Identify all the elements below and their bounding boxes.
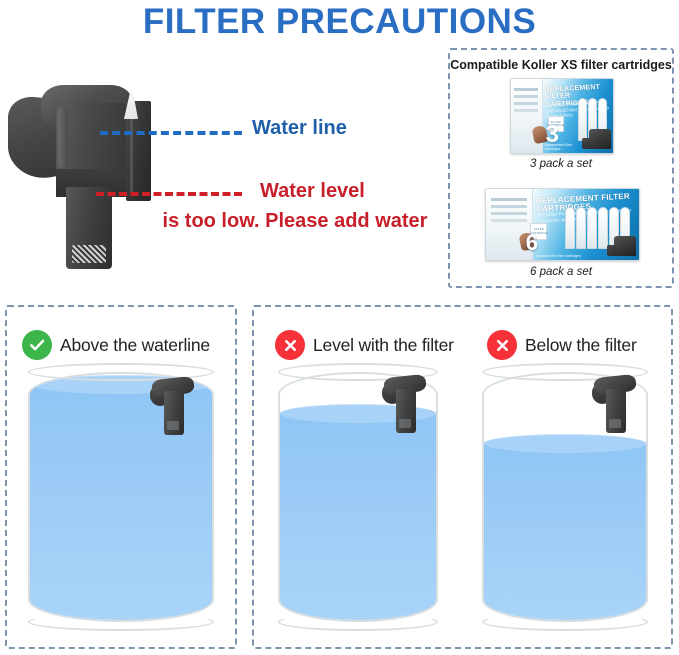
cartridge-graphic (578, 98, 587, 141)
check-circle-icon (22, 330, 52, 360)
box-count-caption: replacement filter cartridges (536, 254, 582, 258)
tank-water-fill (484, 443, 646, 620)
tank-level-with-filter (278, 372, 438, 622)
cartridges-panel-header: Compatible Koller XS filter cartridges (450, 58, 672, 72)
tank-base-ellipse (278, 613, 438, 631)
water-level-label-line2: is too low. Please add water (150, 210, 440, 233)
water-line-label: Water line (252, 117, 347, 140)
status-above-waterline: Above the waterline (22, 330, 210, 360)
product-box-artwork: REPLACEMENT FILTER CARTRIDGES For Koller… (510, 78, 614, 154)
infographic-root: FILTER PRECAUTIONS Water line Water leve… (0, 0, 679, 655)
product-box-6-pack: REPLACEMENT FILTER CARTRIDGES For Koller… (485, 188, 640, 261)
tank-mounted-filter (592, 376, 638, 440)
box-filter-graphic (614, 236, 636, 256)
cartridge-graphic (565, 207, 575, 248)
mini-filter-tube (396, 389, 416, 433)
status-label-above-waterline: Above the waterline (60, 335, 210, 356)
compatible-cartridges-panel: Compatible Koller XS filter cartridges R… (448, 48, 674, 288)
status-below-filter: Below the filter (487, 330, 637, 360)
page-title: FILTER PRECAUTIONS (0, 2, 679, 42)
cartridge-graphic (587, 207, 597, 248)
filter-waterline-diagram: Water line Water level is too low. Pleas… (0, 60, 450, 290)
tank-water-fill (280, 413, 436, 620)
tank-base-ellipse (482, 613, 648, 631)
water-line-dashed-marker (100, 131, 242, 135)
cartridge-graphic (598, 207, 608, 248)
tank-mounted-filter (382, 376, 428, 440)
status-label-level-with-filter: Level with the filter (313, 335, 454, 356)
product-box-3-pack: REPLACEMENT FILTER CARTRIDGES For Koller… (510, 78, 614, 154)
filter-ridge-shape (58, 107, 68, 169)
box-count-number: 6 (526, 232, 538, 254)
box-filter-graphic (589, 129, 611, 149)
box-count-caption: replacement filter cartridges (545, 143, 576, 152)
tank-mounted-filter (150, 378, 196, 442)
tank-above-waterline (28, 372, 214, 622)
mini-filter-tube (606, 389, 626, 433)
hang-on-filter-illustration (8, 73, 158, 268)
filter-intake-grate (72, 245, 106, 263)
status-level-with-filter: Level with the filter (275, 330, 454, 360)
x-circle-icon (275, 330, 305, 360)
water-level-label: Water level (260, 180, 365, 203)
pack-caption-3: 3 pack a set (450, 158, 672, 170)
water-level-dashed-marker (96, 192, 242, 196)
pack-caption-6: 6 pack a set (450, 266, 672, 278)
cartridge-graphic (576, 207, 586, 248)
x-circle-icon (487, 330, 517, 360)
mini-filter-tube (164, 391, 184, 435)
tank-below-filter (482, 372, 648, 622)
product-box-artwork: REPLACEMENT FILTER CARTRIDGES For Koller… (485, 188, 640, 261)
tank-base-ellipse (28, 613, 214, 631)
status-label-below-filter: Below the filter (525, 335, 637, 356)
